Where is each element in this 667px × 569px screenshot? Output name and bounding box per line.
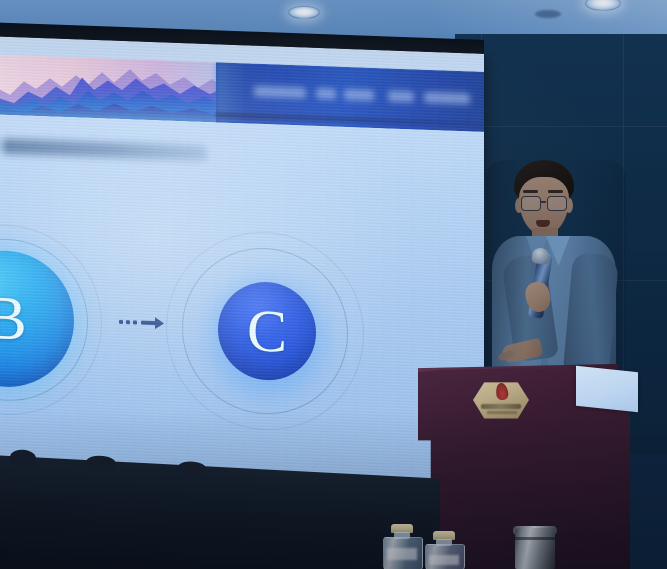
flow-arrow bbox=[119, 315, 163, 331]
bottle-label bbox=[429, 555, 459, 565]
wall-panel-seam bbox=[455, 126, 667, 127]
thermos-ring bbox=[515, 537, 555, 540]
audience-head-silhouette bbox=[10, 449, 36, 466]
ceiling-downlight bbox=[288, 6, 320, 19]
mountain-range-illustration bbox=[0, 54, 234, 123]
water-bottle bbox=[382, 524, 422, 569]
eyeglasses-bridge bbox=[540, 201, 546, 203]
eyeglasses-lens bbox=[547, 196, 567, 211]
podium-document: light-blue-document bbox=[576, 366, 638, 413]
header-title-blurred bbox=[388, 90, 414, 102]
audience-head-silhouette bbox=[178, 461, 206, 474]
thermos-flask bbox=[515, 528, 555, 569]
emblem-text-blurred bbox=[481, 404, 521, 409]
slide-body: B C bbox=[0, 114, 484, 504]
presenter bbox=[486, 160, 626, 390]
projection-screen: B C bbox=[0, 36, 484, 504]
water-bottle bbox=[424, 531, 464, 569]
header-title-blurred bbox=[344, 89, 374, 101]
header-title-blurred bbox=[424, 92, 470, 105]
header-title-blurred bbox=[254, 86, 306, 99]
arrow-dot bbox=[126, 320, 130, 324]
presentation-photo-scene: B C bbox=[0, 0, 667, 569]
arrow-head-icon bbox=[155, 317, 164, 329]
arrow-dot bbox=[133, 320, 137, 324]
header-title-blurred bbox=[316, 88, 336, 100]
emblem-subtext-blurred bbox=[487, 411, 517, 414]
presenter-mouth bbox=[536, 220, 550, 227]
eyeglasses-lens bbox=[521, 196, 541, 211]
bottle-label bbox=[387, 548, 417, 560]
arrow-dot bbox=[119, 320, 123, 324]
presenter-eyebrow bbox=[523, 190, 538, 193]
presenter-eyebrow bbox=[548, 190, 563, 193]
slide-subtitle-blurred bbox=[2, 139, 207, 161]
ceiling-vent bbox=[535, 10, 561, 18]
